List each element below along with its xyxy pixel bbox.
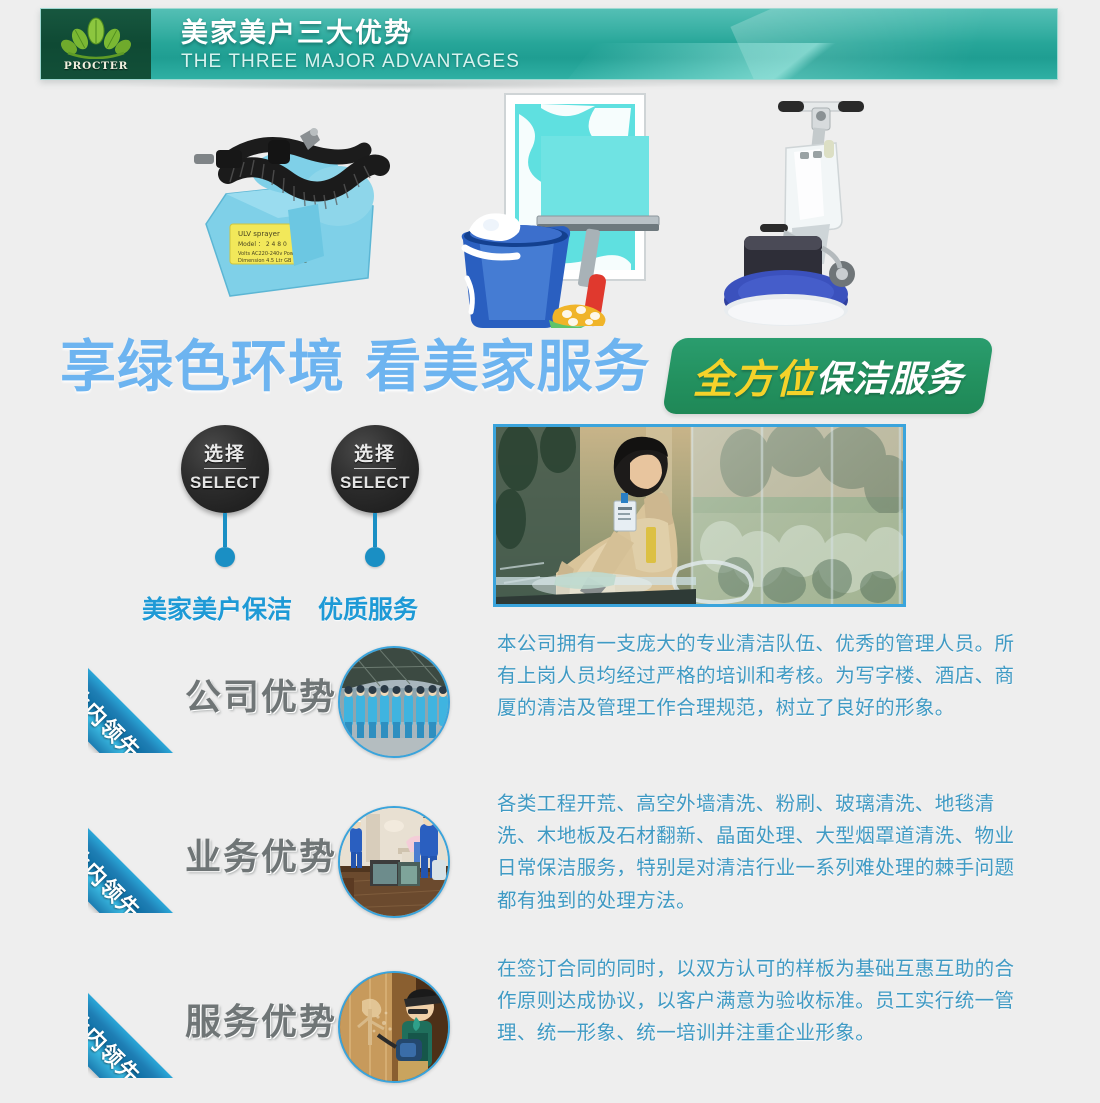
hero-photo-art — [496, 427, 903, 604]
select-markers-group: 选择 SELECT 美家美户保洁 选择 SELECT 优质服务 — [0, 425, 480, 615]
page-header: PROCTER 美家美户三大优势 THE THREE MAJOR ADVANTA… — [40, 8, 1058, 80]
advantages-page: PROCTER 美家美户三大优势 THE THREE MAJOR ADVANTA… — [0, 0, 1100, 1096]
worker-spraying-wall-photo — [338, 971, 450, 1083]
advantage-row-1: 业内领先 公司优势 — [0, 628, 1100, 778]
badge-text-group: 全方位 保洁服务 — [668, 338, 988, 414]
thumb-art-2 — [340, 808, 448, 916]
workers-cleaning-restaurant-photo — [338, 806, 450, 918]
select-circle-2: 选择 SELECT — [331, 425, 419, 513]
advantage-row-3: 业内领先 服务优势 — [0, 953, 1100, 1103]
header-light-streak — [730, 8, 1058, 80]
select-marker-1[interactable]: 选择 SELECT — [150, 425, 300, 567]
select-caption-1: 美家美户保洁 — [142, 590, 292, 626]
window-squeegee-illustration — [445, 88, 670, 328]
advantage-row-2: 业内领先 业务优势 — [0, 788, 1100, 938]
badge-text-primary: 全方位 — [692, 347, 815, 405]
svg-text:Model ： 2 4 8 0: Model ： 2 4 8 0 — [238, 241, 287, 248]
select-label-cn-1: 选择 — [204, 445, 246, 469]
select-stem-1 — [223, 513, 227, 547]
product-image-strip: ULV sprayer Model ： 2 4 8 0 Volts AC220-… — [0, 88, 1100, 343]
advantage-body-3: 在签订合同的同时，以双方认可的样板为基础互惠互助的合作原则达成协议，以客户满意为… — [497, 953, 1017, 1050]
badge-text-secondary: 保洁服务 — [815, 350, 963, 402]
floor-polisher-image — [720, 88, 900, 333]
select-label-cn-2: 选择 — [354, 445, 396, 469]
select-caption-2: 优质服务 — [318, 590, 418, 626]
page-title-cn: 美家美户三大优势 — [181, 18, 520, 49]
hero-headline: 享绿色环境 看美家服务 — [60, 340, 651, 396]
brand-logo: PROCTER — [41, 9, 151, 79]
cleaning-staff-lineup-photo — [338, 646, 450, 758]
green-leaf-crown-icon — [60, 17, 132, 59]
thumb-art-3 — [340, 973, 448, 1081]
header-diagonal-streak — [526, 43, 1016, 80]
select-dot-1 — [215, 547, 235, 567]
thumb-art-1 — [340, 648, 448, 756]
select-stem-2 — [373, 513, 377, 547]
full-service-badge: 全方位 保洁服务 — [668, 338, 988, 414]
select-dot-2 — [365, 547, 385, 567]
advantage-title-2: 业务优势 — [185, 828, 337, 880]
select-marker-2[interactable]: 选择 SELECT — [300, 425, 450, 567]
ulv-sprayer-image: ULV sprayer Model ： 2 4 8 0 Volts AC220-… — [168, 106, 398, 321]
worker-cleaning-glass-table-photo — [493, 424, 906, 607]
header-title-group: 美家美户三大优势 THE THREE MAJOR ADVANTAGES — [181, 18, 520, 73]
page-title-en: THE THREE MAJOR ADVANTAGES — [181, 51, 520, 73]
advantage-title-1: 公司优势 — [185, 668, 337, 720]
select-circle-1: 选择 SELECT — [181, 425, 269, 513]
select-label-en-2: SELECT — [340, 473, 410, 493]
select-label-en-1: SELECT — [190, 473, 260, 493]
brand-logo-text: PROCTER — [64, 60, 128, 72]
advantage-title-3: 服务优势 — [185, 993, 337, 1045]
advantage-body-2: 各类工程开荒、高空外墙清洗、粉刷、玻璃清洗、地毯清洗、木地板及石材翻新、晶面处理… — [497, 788, 1017, 917]
svg-text:ULV sprayer: ULV sprayer — [238, 230, 280, 238]
advantage-body-1: 本公司拥有一支庞大的专业清洁队伍、优秀的管理人员。所有上岗人员均经过严格的培训和… — [497, 628, 1017, 725]
